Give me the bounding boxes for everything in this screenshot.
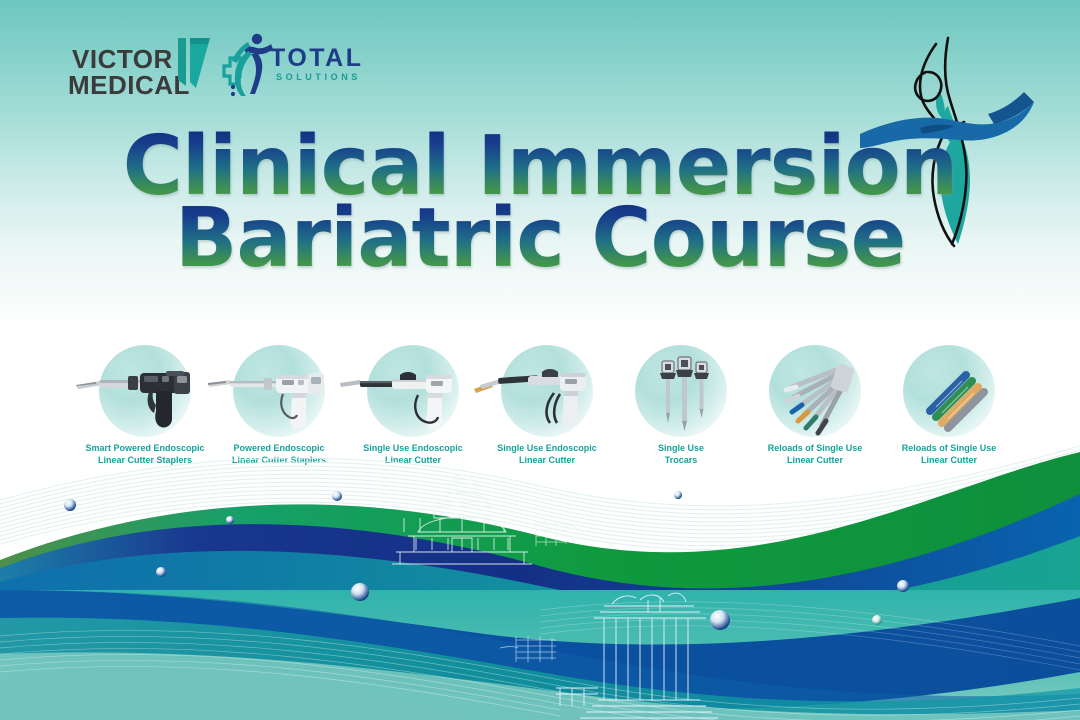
total-solutions-subword: SOLUTIONS [276, 73, 361, 82]
total-solutions-wordmark: TOTAL [270, 46, 364, 71]
victor-logo-line-1: VICTOR [72, 46, 173, 72]
poster-title: Clinical Immersion Bariatric Course [0, 128, 1080, 278]
trocars-icon [606, 345, 756, 437]
victor-medical-logo: VICTOR MEDICAL [68, 36, 218, 98]
poster-canvas: VICTOR MEDICAL TOTAL SOLUTIONS [0, 0, 1080, 720]
single-use-cutter-icon [338, 345, 488, 437]
total-solutions-logo: TOTAL SOLUTIONS [222, 32, 392, 98]
single-use-cutter-grey-icon [472, 345, 622, 437]
victor-logo-line-2: MEDICAL [68, 72, 190, 98]
reloads-fan-icon [740, 345, 890, 437]
endoscopic-stapler-dark-icon [70, 345, 220, 437]
endoscopic-stapler-white-icon [204, 345, 354, 437]
wave-illustration [0, 440, 1080, 720]
reloads-stack-icon [874, 345, 1024, 437]
victor-v-mark-icon [174, 36, 212, 98]
page-title-line-2: Bariatric Course [0, 200, 1080, 278]
wave-graphic [0, 440, 1080, 720]
